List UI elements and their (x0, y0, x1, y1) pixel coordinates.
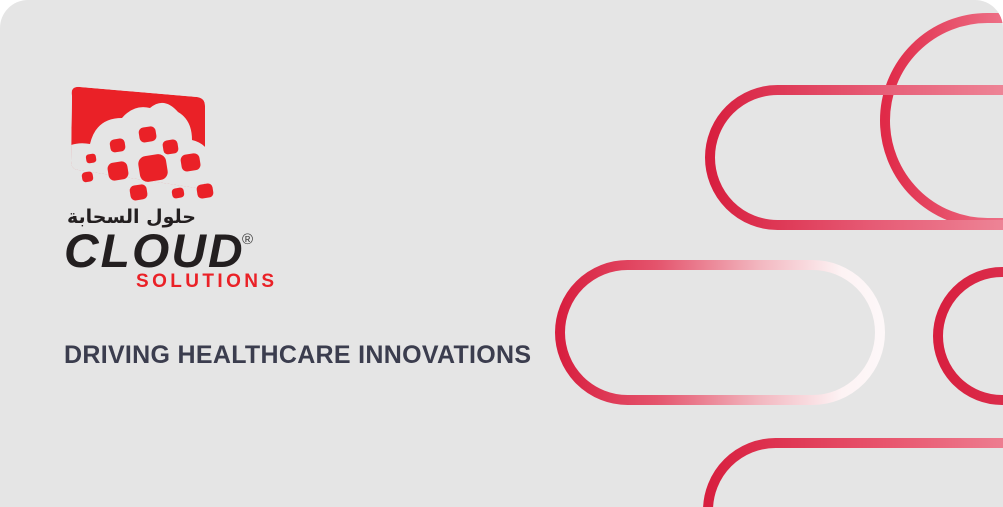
logo-cloud-row: CLOUD ® SOLUTIONS (64, 230, 304, 272)
logo-cloud-text: CLOUD (64, 230, 245, 272)
logo-solutions-text: SOLUTIONS (136, 272, 277, 291)
logo: حلول السحابة CLOUD ® SOLUTIONS (64, 84, 324, 272)
pill-center-fade (560, 265, 880, 400)
cloud-pixel-logo-icon (64, 84, 239, 206)
page-title: DRIVING HEALTHCARE INNOVATIONS (64, 341, 531, 370)
pill-right-edge (938, 272, 1003, 400)
logo-wordmark: حلول السحابة CLOUD ® SOLUTIONS (64, 208, 304, 272)
pill-bottom (708, 443, 1003, 507)
pill-upper-red (710, 90, 1003, 225)
pill-top-right-pink (885, 18, 1003, 223)
registered-trademark-icon: ® (242, 232, 253, 247)
brand-banner: حلول السحابة CLOUD ® SOLUTIONS DRIVING H… (0, 0, 1003, 507)
